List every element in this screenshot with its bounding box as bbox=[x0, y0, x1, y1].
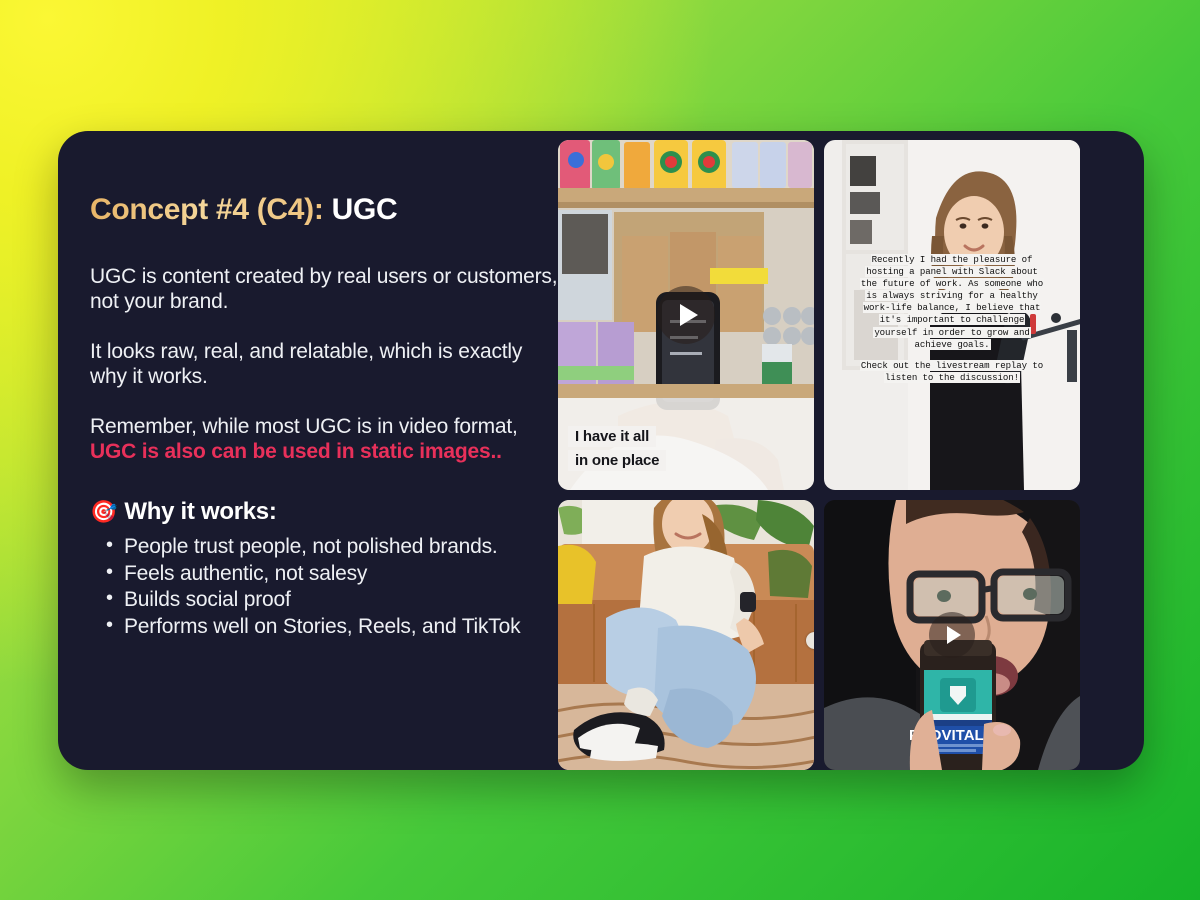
paragraph-remember: Remember, while most UGC is in video for… bbox=[90, 415, 558, 464]
paragraph-raw-real: It looks raw, real, and relatable, which… bbox=[90, 340, 558, 389]
story-text-overlay: Recently I had the pleasure of hosting a… bbox=[827, 254, 1077, 384]
play-button-icon[interactable] bbox=[657, 286, 715, 344]
video-caption: I have it all in one place bbox=[568, 426, 666, 474]
list-item: Performs well on Stories, Reels, and Tik… bbox=[90, 614, 558, 639]
why-it-works-heading: 🎯 Why it works: bbox=[90, 498, 558, 526]
text-pane: Concept #4 (C4): UGC UGC is content crea… bbox=[58, 131, 558, 770]
story-line: it's important to challenge bbox=[827, 314, 1077, 326]
story-spacer bbox=[827, 351, 1077, 360]
list-item: Builds social proof bbox=[90, 587, 558, 612]
why-it-works-label: Why it works: bbox=[124, 498, 276, 526]
title-main: UGC bbox=[332, 193, 398, 226]
title-accent: Concept #4 (C4): bbox=[90, 193, 324, 226]
story-line: yourself in order to grow and bbox=[827, 327, 1077, 339]
caption-line: in one place bbox=[568, 450, 666, 471]
benefits-list: People trust people, not polished brands… bbox=[90, 534, 558, 639]
woman-sitting-image bbox=[558, 500, 814, 770]
slide-card: Concept #4 (C4): UGC UGC is content crea… bbox=[58, 131, 1144, 770]
story-line: the future of work. As someone who bbox=[827, 278, 1077, 290]
media-grid: I have it all in one place bbox=[558, 140, 1135, 770]
paragraph-definition: UGC is content created by real users or … bbox=[90, 265, 558, 314]
story-line: Check out the livestream replay to bbox=[827, 360, 1077, 372]
media-tile-retail-shelf[interactable]: I have it all in one place bbox=[558, 140, 814, 490]
story-line: hosting a panel with Slack about bbox=[827, 266, 1077, 278]
target-icon: 🎯 bbox=[90, 501, 117, 523]
list-item: People trust people, not polished brands… bbox=[90, 534, 558, 559]
list-item: Feels authentic, not salesy bbox=[90, 561, 558, 586]
story-line: listen to the discussion! bbox=[827, 372, 1077, 384]
media-tile-woman-on-floor[interactable] bbox=[558, 500, 814, 770]
story-line: is always striving for a healthy bbox=[827, 290, 1077, 302]
remember-highlight: UGC is also can be used in static images… bbox=[90, 440, 502, 463]
story-line: work-life balance, I believe that bbox=[827, 302, 1077, 314]
page-title: Concept #4 (C4): UGC bbox=[90, 193, 558, 227]
media-tile-supplement-creator[interactable]: PROVITALIZE bbox=[824, 500, 1080, 770]
caption-line: I have it all bbox=[568, 426, 656, 447]
media-tile-podcast-story[interactable]: Recently I had the pleasure of hosting a… bbox=[824, 140, 1080, 490]
media-pane: I have it all in one place bbox=[558, 131, 1144, 770]
remember-prefix: Remember, while most UGC is in video for… bbox=[90, 415, 518, 438]
story-line: Recently I had the pleasure of bbox=[827, 254, 1077, 266]
story-line: achieve goals. bbox=[827, 339, 1077, 351]
play-button-icon[interactable] bbox=[929, 612, 975, 658]
